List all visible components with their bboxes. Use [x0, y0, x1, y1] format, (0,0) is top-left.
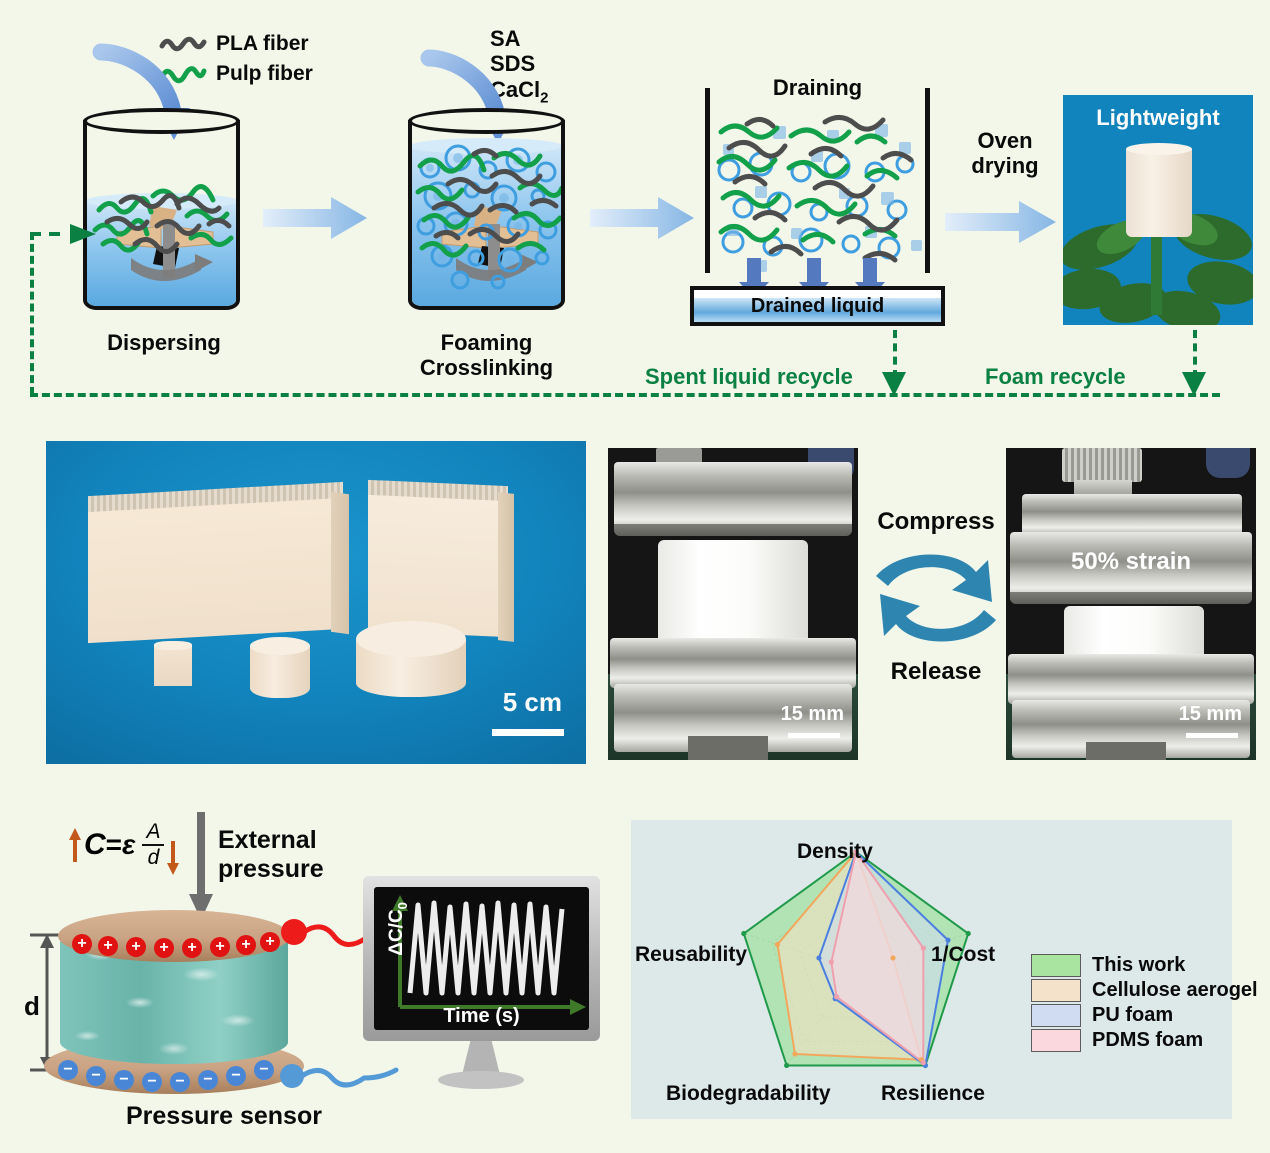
step-caption-dispersing: Dispersing: [99, 330, 229, 355]
axis-label-cost: 1/Cost: [931, 943, 995, 967]
legend-label: Cellulose aerogel: [1092, 979, 1258, 1002]
recycle-arrow-foam: [1181, 370, 1207, 398]
compress-right-scalebar: [1186, 733, 1238, 738]
thickness-label: d: [24, 992, 40, 1022]
compress-label: Compress: [856, 508, 1016, 536]
beaker-foaming: [408, 108, 565, 310]
arrow-down-icon: [166, 841, 180, 875]
legend-label: This work: [1092, 954, 1185, 977]
radar-chart: [671, 830, 1071, 1110]
legend-label: PU foam: [1092, 1004, 1173, 1027]
foam-specimen: [658, 540, 808, 644]
pressure-sensor-caption: Pressure sensor: [126, 1102, 322, 1131]
formula-fraction: A d: [142, 820, 164, 870]
samples-scalebar: [492, 729, 564, 736]
legend-label-pulp: Pulp fiber: [216, 62, 313, 86]
formula-epsilon: ε: [122, 829, 135, 861]
compression-photo-compressed: 50% strain 15 mm: [1006, 448, 1256, 760]
legend-swatch-pdms-foam: [1031, 1029, 1081, 1052]
charge-negative: −: [114, 1070, 134, 1090]
charge-positive: +: [260, 932, 280, 952]
charge-positive: +: [126, 937, 146, 957]
recycle-arrow-into-beaker: [30, 222, 100, 246]
charge-negative: −: [198, 1070, 218, 1090]
step-caption-foaming: Foaming Crosslinking: [404, 330, 569, 381]
charge-positive: +: [154, 938, 174, 958]
monitor-stand-neck: [462, 1041, 500, 1075]
charge-positive: +: [236, 935, 256, 955]
strain-caption: 50% strain: [1006, 548, 1256, 576]
charge-positive: +: [182, 938, 202, 958]
axis-label-reusability: Reusability: [635, 943, 747, 967]
process-arrow-2: [590, 196, 695, 240]
charge-negative: −: [254, 1060, 274, 1080]
formula-c: C: [84, 828, 106, 862]
step-caption-drying: Oven drying: [950, 128, 1060, 179]
samples-scalebar-label: 5 cm: [503, 687, 562, 718]
legend-item: PDMS foam: [1031, 1029, 1258, 1052]
legend-swatch-pu-foam: [1031, 1004, 1081, 1027]
drained-liquid-label: Drained liquid: [694, 295, 941, 318]
release-label: Release: [856, 658, 1016, 686]
formula-denominator: d: [142, 846, 164, 870]
axis-label-biodegradability: Biodegradability: [666, 1082, 831, 1106]
arrow-up-icon: [68, 828, 82, 862]
compression-panel: 15 mm Compress Release 50% strain 15 mm: [600, 440, 1270, 770]
legend-swatch-this-work: [1031, 954, 1081, 977]
monitor-stand-base: [438, 1071, 524, 1089]
process-flow-panel: PLA fiber Pulp fiber SA SDS CaCl2: [0, 0, 1270, 420]
process-arrow-1: [263, 196, 368, 240]
top-electrode: [58, 910, 290, 962]
legend-item: PU foam: [1031, 1004, 1258, 1027]
additive-sa: SA: [490, 26, 548, 51]
signal-monitor: ΔC/C0 Time (s): [363, 876, 600, 1041]
lightweight-caption: Lightweight: [1063, 105, 1253, 131]
recycle-line-bottom: [30, 393, 1220, 397]
pressure-sensor-panel: C = ε A d External pressure d: [0, 790, 620, 1153]
formula-equals: =: [106, 829, 122, 861]
axis-label-density: Density: [797, 840, 873, 864]
axis-label-resilience: Resilience: [881, 1082, 985, 1106]
charge-negative: −: [58, 1060, 78, 1080]
sensor-cylinder: + + + + + + + + − − − − − − − −: [44, 910, 304, 1095]
monitor-y-axis-label: ΔC/C0: [386, 889, 410, 969]
recycle-line-left: [30, 232, 34, 395]
draining-apparatus: Drained liquid: [705, 88, 930, 328]
legend-swatch-cellulose-aerogel: [1031, 979, 1081, 1002]
monitor-x-axis-label: Time (s): [374, 1005, 589, 1028]
compression-photo-uncompressed: 15 mm: [608, 448, 858, 760]
charge-negative: −: [142, 1072, 162, 1092]
external-pressure-arrow: [188, 812, 214, 922]
radar-legend: This work Cellulose aerogel PU foam PDMS…: [1031, 954, 1258, 1054]
legend-item: This work: [1031, 954, 1258, 977]
formula-numerator: A: [142, 820, 164, 846]
beaker-dispersing: [83, 108, 240, 310]
recycle-label-foam: Foam recycle: [985, 364, 1126, 390]
monitor-screen: ΔC/C0 Time (s): [374, 887, 589, 1030]
legend-label: PDMS foam: [1092, 1029, 1203, 1052]
knurled-knob: [1062, 448, 1142, 482]
charge-positive: +: [98, 936, 118, 956]
drained-liquid-tray: Drained liquid: [690, 286, 945, 326]
scientific-figure: PLA fiber Pulp fiber SA SDS CaCl2: [0, 0, 1270, 1153]
recycle-arrow-spent: [881, 370, 907, 398]
charge-negative: −: [226, 1066, 246, 1086]
lightweight-foam-photo: Lightweight: [1063, 95, 1253, 325]
radar-chart-panel: Density 1/Cost Resilience Biodegradabili…: [631, 820, 1232, 1119]
capacitance-formula-group: C = ε A d: [68, 815, 180, 875]
charge-positive: +: [72, 934, 92, 954]
charge-positive: +: [210, 937, 230, 957]
charge-negative: −: [170, 1072, 190, 1092]
legend-label-pla: PLA fiber: [216, 32, 309, 56]
compress-left-scalebar: [788, 733, 840, 738]
step-caption-draining: Draining: [735, 75, 900, 100]
charge-negative: −: [86, 1066, 106, 1086]
external-pressure-label: External pressure: [218, 826, 324, 884]
foam-specimen-compressed: [1064, 606, 1204, 660]
cycle-arrows-icon: [866, 540, 1006, 656]
recycle-label-spent: Spent liquid recycle: [645, 364, 853, 390]
compress-right-scalebar-label: 15 mm: [1179, 703, 1242, 726]
process-arrow-3: [945, 200, 1057, 244]
legend-item: Cellulose aerogel: [1031, 979, 1258, 1002]
foam-samples-photo: 5 cm: [46, 441, 586, 764]
compress-left-scalebar-label: 15 mm: [781, 703, 844, 726]
